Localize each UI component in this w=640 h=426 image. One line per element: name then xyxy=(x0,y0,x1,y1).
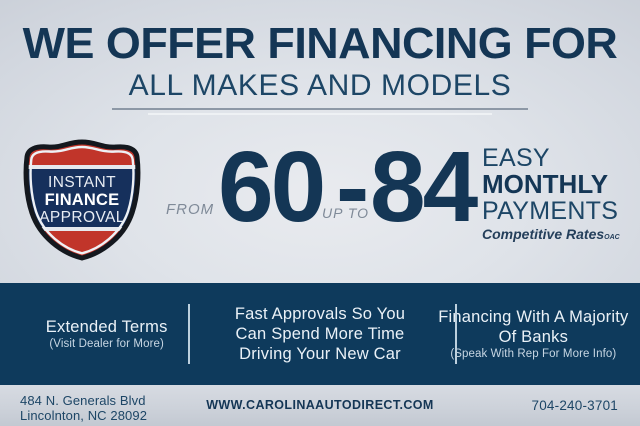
term-min-value: 60 xyxy=(218,137,323,237)
terms-line-1: EASY xyxy=(482,145,640,171)
offer-terms-group: FROM 60 - UP TO 84 EASY MONTHLY PAYMENTS… xyxy=(150,139,640,263)
divider-light xyxy=(148,113,492,115)
page-title: WE OFFER FINANCING FOR xyxy=(0,22,640,66)
interstate-shield-icon xyxy=(18,139,146,261)
dealer-phone[interactable]: 704-240-3701 xyxy=(532,398,618,413)
financing-advertisement: WE OFFER FINANCING FOR ALL MAKES AND MOD… xyxy=(0,0,640,426)
feature-column-3: Financing With A Majority Of Banks (Spea… xyxy=(427,307,640,362)
feature-1-note: (Visit Dealer for More) xyxy=(8,337,205,352)
feature-1-title: Extended Terms xyxy=(8,317,205,337)
terms-line-3: PAYMENTS xyxy=(482,198,640,225)
terms-fineprint: Competitive RatesOAC xyxy=(482,227,640,245)
instant-finance-approval-badge: INSTANT FINANCE APPROVAL xyxy=(18,139,146,261)
divider-dark xyxy=(112,108,528,110)
range-dash: - xyxy=(336,137,369,237)
terms-fineprint-oac: OAC xyxy=(604,234,620,241)
term-max-value: 84 xyxy=(370,137,475,237)
feature-column-2: Fast Approvals So You Can Spend More Tim… xyxy=(213,304,426,364)
feature-3-note: (Speak With Rep For More Info) xyxy=(435,347,632,362)
terms-line-2: MONTHLY xyxy=(482,171,640,198)
features-bar: Extended Terms (Visit Dealer for More) F… xyxy=(0,283,640,385)
footer-bar: 484 N. Generals Blvd Lincolnton, NC 2809… xyxy=(0,385,640,426)
from-label: FROM xyxy=(166,201,214,218)
upto-label: UP TO xyxy=(322,205,369,221)
feature-column-1: Extended Terms (Visit Dealer for More) xyxy=(0,317,213,352)
feature-2-title: Fast Approvals So You Can Spend More Tim… xyxy=(221,304,418,364)
page-subtitle: ALL MAKES AND MODELS xyxy=(0,70,640,102)
payment-terms-stack: EASY MONTHLY PAYMENTS Competitive RatesO… xyxy=(482,145,640,245)
feature-3-title: Financing With A Majority Of Banks xyxy=(435,307,632,347)
feature-divider-2 xyxy=(455,304,457,364)
feature-divider-1 xyxy=(188,304,190,364)
terms-fineprint-text: Competitive Rates xyxy=(482,226,604,242)
